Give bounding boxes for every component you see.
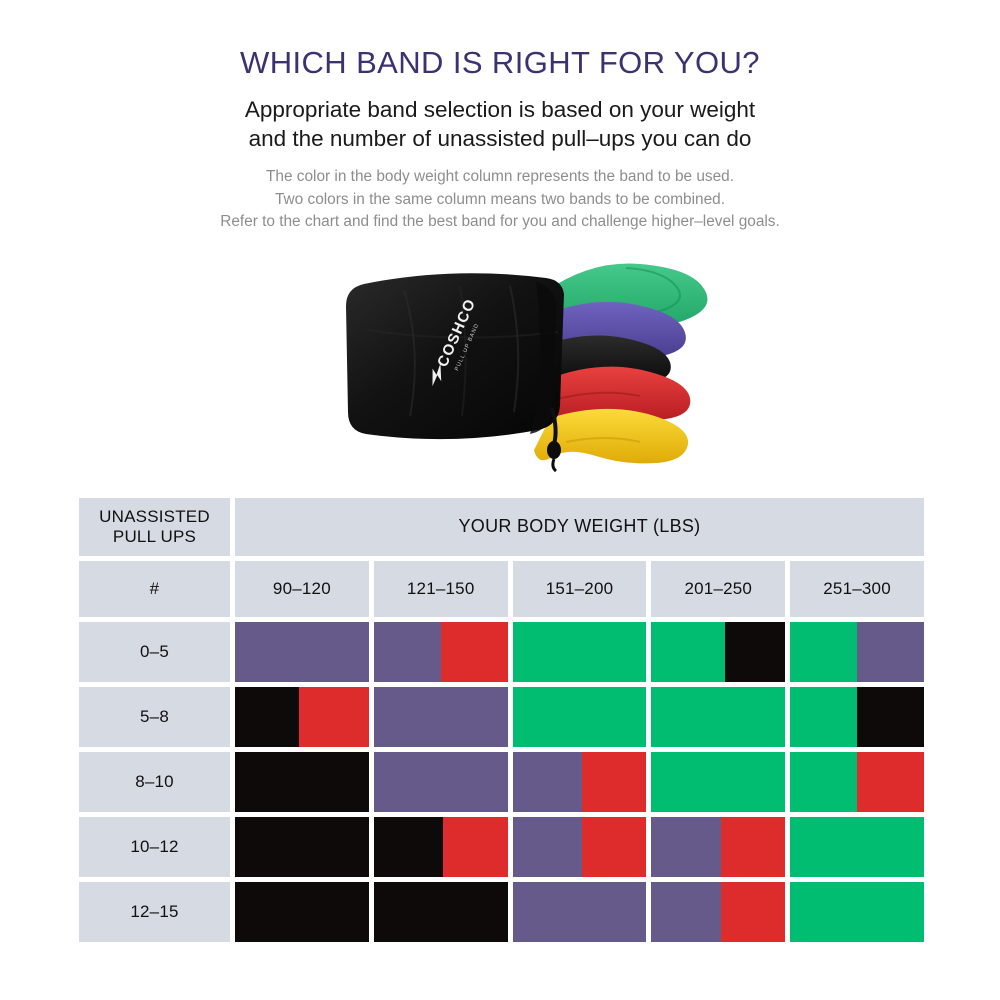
band-cell-r3-c3: [651, 817, 785, 877]
band-selection-table: UNASSISTED PULL UPS YOUR BODY WEIGHT (LB…: [79, 498, 924, 942]
band-swatch-black: [374, 882, 508, 942]
band-swatch-purple: [374, 687, 508, 747]
note-line-1: The color in the body weight column repr…: [0, 166, 1000, 188]
subtitle-line-1: Appropriate band selection is based on y…: [0, 95, 1000, 124]
band-swatch-purple: [513, 882, 647, 942]
header-text-block: WHICH BAND IS RIGHT FOR YOU? Appropriate…: [0, 0, 1000, 234]
band-swatch-black: [374, 817, 444, 877]
drawstring-bag-icon: COSHCO PULL UP BAND: [346, 273, 564, 471]
band-swatch-black: [235, 687, 299, 747]
page-title: WHICH BAND IS RIGHT FOR YOU?: [0, 46, 1000, 81]
row-label-4: 12–15: [79, 882, 230, 942]
band-swatch-green: [790, 882, 924, 942]
band-swatch-green: [651, 622, 725, 682]
table-header-row-group: UNASSISTED PULL UPS YOUR BODY WEIGHT (LB…: [79, 498, 924, 556]
row-label-2: 8–10: [79, 752, 230, 812]
band-cell-r0-c4: [790, 622, 924, 682]
band-cell-r2-c3: [651, 752, 785, 812]
table-row: 8–10: [79, 752, 924, 812]
band-cell-r1-c4: [790, 687, 924, 747]
band-cell-r3-c0: [235, 817, 369, 877]
band-swatch-black: [235, 752, 369, 812]
note-line-3: Refer to the chart and find the best ban…: [0, 211, 1000, 233]
table-row: 5–8: [79, 687, 924, 747]
table-row: 12–15: [79, 882, 924, 942]
band-cell-r1-c1: [374, 687, 508, 747]
band-swatch-red: [857, 752, 924, 812]
table-header-row-categories: # 90–120 121–150 151–200 201–250 251–300: [79, 561, 924, 617]
page-subtitle: Appropriate band selection is based on y…: [0, 95, 1000, 154]
band-cell-r0-c0: [235, 622, 369, 682]
category-cells: 90–120 121–150 151–200 201–250 251–300: [235, 561, 924, 617]
band-cell-r2-c1: [374, 752, 508, 812]
header-unassisted-pull-ups: UNASSISTED PULL UPS: [79, 498, 230, 556]
subtitle-line-2: and the number of unassisted pull–ups yo…: [0, 124, 1000, 153]
band-swatch-green: [651, 752, 785, 812]
band-swatch-red: [443, 817, 507, 877]
band-swatch-green: [790, 687, 857, 747]
band-swatch-red: [582, 817, 646, 877]
band-swatch-red: [721, 882, 785, 942]
category-cell-1: 121–150: [374, 561, 508, 617]
row-cells-2: [235, 752, 924, 812]
table-row: 0–5: [79, 622, 924, 682]
page-note: The color in the body weight column repr…: [0, 166, 1000, 233]
band-swatch-green: [790, 752, 857, 812]
row-cells-3: [235, 817, 924, 877]
band-cell-r4-c0: [235, 882, 369, 942]
band-swatch-green: [790, 622, 857, 682]
band-cell-r2-c0: [235, 752, 369, 812]
product-photo: COSHCO PULL UP BAND: [340, 252, 740, 488]
band-swatch-black: [235, 817, 369, 877]
band-cell-r0-c1: [374, 622, 508, 682]
row-label-1: 5–8: [79, 687, 230, 747]
band-swatch-purple: [857, 622, 924, 682]
row-cells-0: [235, 622, 924, 682]
band-cell-r1-c2: [513, 687, 647, 747]
header-your-body-weight: YOUR BODY WEIGHT (LBS): [235, 498, 924, 556]
band-swatch-green: [651, 687, 785, 747]
band-swatch-purple: [513, 817, 583, 877]
band-cell-r4-c4: [790, 882, 924, 942]
row-label-3: 10–12: [79, 817, 230, 877]
row-cells-4: [235, 882, 924, 942]
band-cell-r1-c0: [235, 687, 369, 747]
table-row: 10–12: [79, 817, 924, 877]
band-swatch-green: [513, 687, 647, 747]
band-swatch-purple: [374, 752, 508, 812]
header-unassisted-line-1: UNASSISTED: [99, 507, 210, 526]
band-cell-r4-c1: [374, 882, 508, 942]
header-body-weight-wrap: YOUR BODY WEIGHT (LBS): [235, 498, 924, 556]
band-cell-r2-c2: [513, 752, 647, 812]
band-swatch-red: [441, 622, 508, 682]
table-body: 0–55–88–1010–1212–15: [79, 622, 924, 942]
band-cell-r3-c2: [513, 817, 647, 877]
header-unassisted-line-2: PULL UPS: [113, 527, 196, 546]
category-cell-3: 201–250: [651, 561, 785, 617]
band-swatch-purple: [235, 622, 369, 682]
band-swatch-black: [235, 882, 369, 942]
note-line-2: Two colors in the same column means two …: [0, 189, 1000, 211]
row-label-0: 0–5: [79, 622, 230, 682]
band-cell-r4-c2: [513, 882, 647, 942]
band-swatch-green: [790, 817, 924, 877]
category-cell-0: 90–120: [235, 561, 369, 617]
category-cell-2: 151–200: [513, 561, 647, 617]
band-swatch-green: [513, 622, 647, 682]
band-cell-r2-c4: [790, 752, 924, 812]
band-swatch-black: [857, 687, 924, 747]
band-cell-r0-c2: [513, 622, 647, 682]
band-swatch-red: [299, 687, 369, 747]
band-selection-infographic: WHICH BAND IS RIGHT FOR YOU? Appropriate…: [0, 0, 1000, 1000]
band-swatch-purple: [651, 817, 721, 877]
band-swatch-purple: [651, 882, 721, 942]
band-cell-r0-c3: [651, 622, 785, 682]
header-row-unit: #: [79, 561, 230, 617]
band-swatch-red: [721, 817, 785, 877]
band-swatch-purple: [513, 752, 583, 812]
band-swatch-purple: [374, 622, 441, 682]
row-cells-1: [235, 687, 924, 747]
category-cell-4: 251–300: [790, 561, 924, 617]
band-cell-r3-c1: [374, 817, 508, 877]
band-swatch-red: [582, 752, 646, 812]
band-cell-r4-c3: [651, 882, 785, 942]
band-cell-r1-c3: [651, 687, 785, 747]
band-cell-r3-c4: [790, 817, 924, 877]
band-swatch-black: [725, 622, 785, 682]
